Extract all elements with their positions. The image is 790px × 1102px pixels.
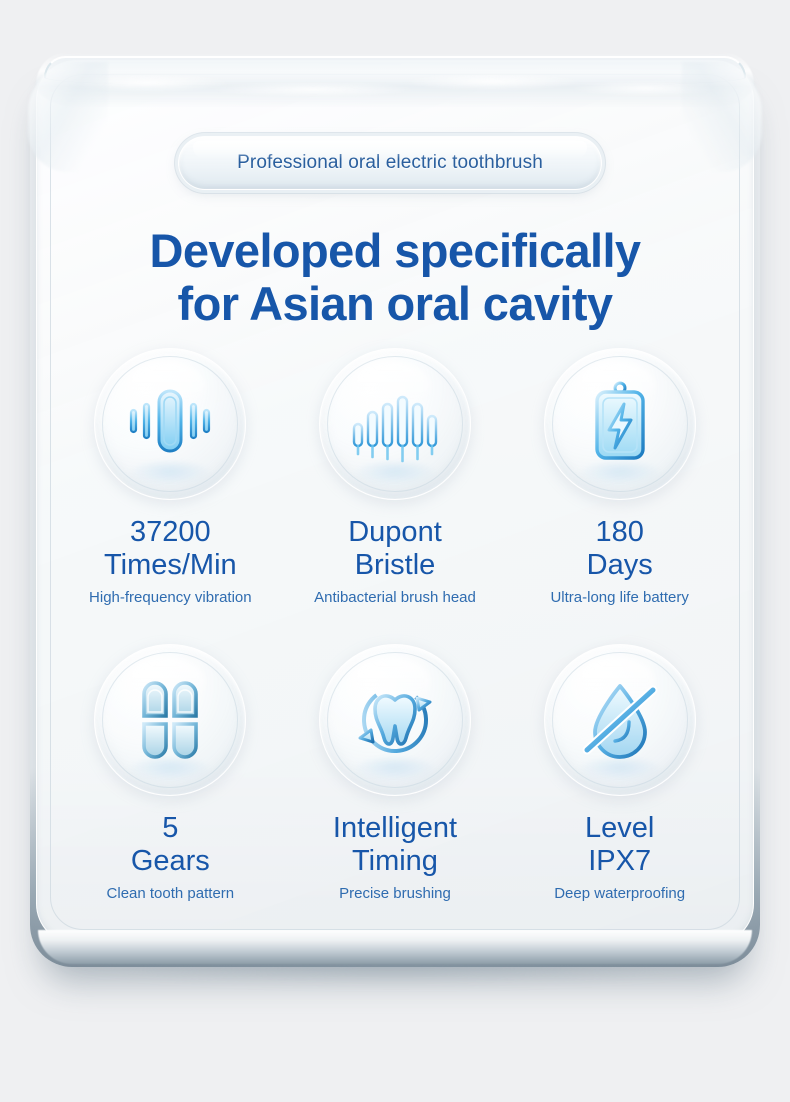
feature-icon-lens (319, 644, 471, 796)
feature-item: 37200 Times/Min High-frequency vibration (58, 348, 283, 606)
feature-title: 180 Days (587, 516, 653, 582)
vibration-waves-icon (127, 381, 213, 467)
feature-caption: Antibacterial brush head (314, 589, 476, 606)
page-title: Developed specifically for Asian oral ca… (0, 224, 790, 330)
feature-caption: Deep waterproofing (554, 885, 685, 902)
feature-caption: Ultra-long life battery (550, 589, 688, 606)
feature-caption: High-frequency vibration (89, 589, 252, 606)
battery-bolt-icon (587, 380, 653, 468)
waterproof-droplet-icon (577, 676, 663, 764)
feature-title-line-1: Intelligent (333, 812, 457, 845)
feature-item: Dupont Bristle Antibacterial brush head (283, 348, 508, 606)
panel-bottom-lip (38, 930, 752, 964)
feature-icon-lens (544, 348, 696, 500)
product-infographic-panel: Professional oral electric toothbrush De… (0, 0, 790, 1102)
feature-title: 5 Gears (131, 812, 210, 878)
feature-caption: Precise brushing (339, 885, 451, 902)
feature-title-line-2: Gears (131, 845, 210, 878)
panel-corner-highlight-left (28, 62, 108, 172)
feature-title: 37200 Times/Min (104, 516, 237, 582)
feature-title-line-1: 37200 (104, 516, 237, 549)
bristle-tufts-icon (351, 384, 439, 464)
feature-caption: Clean tooth pattern (107, 885, 235, 902)
headline-line-2: for Asian oral cavity (0, 277, 790, 330)
feature-title-line-2: Days (587, 549, 653, 582)
badge-label: Professional oral electric toothbrush (237, 152, 543, 174)
feature-title-line-1: Dupont (348, 516, 442, 549)
tooth-timer-cycle-icon (351, 676, 439, 764)
feature-title-line-1: 180 (587, 516, 653, 549)
lens-reflection (353, 462, 437, 486)
feature-title: Level IPX7 (585, 812, 654, 878)
feature-icon-lens (544, 644, 696, 796)
feature-title-line-2: Timing (333, 845, 457, 878)
headline-line-1: Developed specifically (0, 224, 790, 277)
feature-title-line-1: 5 (131, 812, 210, 845)
four-petal-modes-icon (128, 678, 212, 762)
feature-item: Level IPX7 Deep waterproofing (507, 644, 732, 902)
feature-title-line-2: Times/Min (104, 549, 237, 582)
product-category-badge: Professional oral electric toothbrush (178, 136, 602, 190)
feature-title: Dupont Bristle (348, 516, 442, 582)
feature-title-line-2: Bristle (348, 549, 442, 582)
feature-title-line-1: Level (585, 812, 654, 845)
panel-top-rim-highlight (70, 74, 710, 96)
feature-icon-lens (94, 644, 246, 796)
feature-icon-lens (94, 348, 246, 500)
feature-item: 5 Gears Clean tooth pattern (58, 644, 283, 902)
feature-title: Intelligent Timing (333, 812, 457, 878)
feature-item: Intelligent Timing Precise brushing (283, 644, 508, 902)
feature-icon-lens (319, 348, 471, 500)
feature-title-line-2: IPX7 (585, 845, 654, 878)
feature-item: 180 Days Ultra-long life battery (507, 348, 732, 606)
feature-grid: 37200 Times/Min High-frequency vibration (58, 348, 732, 902)
